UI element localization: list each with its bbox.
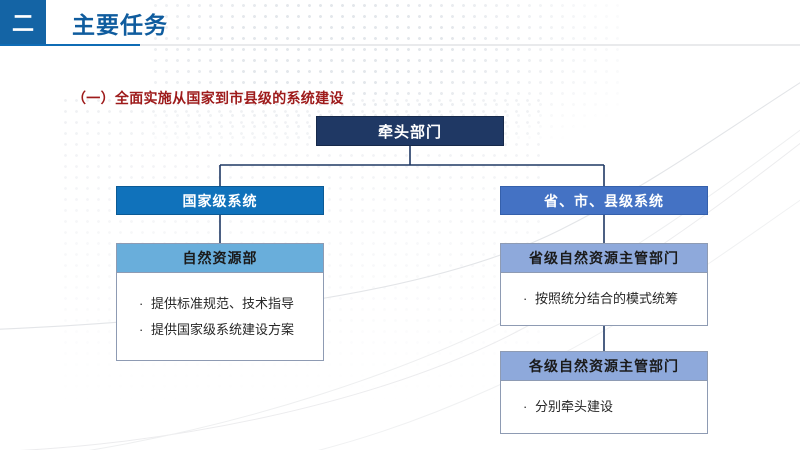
bullet-dot-icon: ·: [523, 400, 535, 414]
list-item: · 提供国家级系统建设方案: [139, 317, 323, 343]
list-item: · 按照统分结合的模式统筹: [523, 286, 707, 312]
section-subtitle: （一）全面实施从国家到市县级的系统建设: [72, 88, 344, 108]
card-title-ministry-natural-resources: 自然资源部: [117, 244, 323, 273]
list-item-label: 提供标准规范、技术指导: [151, 297, 294, 311]
header-divider-accent: [0, 44, 140, 46]
card-title-all-levels-natural-resources-authority: 各级自然资源主管部门: [501, 352, 707, 381]
list-item-label: 分别牵头建设: [535, 400, 613, 414]
bullet-dot-icon: ·: [139, 297, 151, 311]
bullet-dot-icon: ·: [523, 292, 535, 306]
list-item: · 分别牵头建设: [523, 394, 707, 420]
node-national-system[interactable]: 国家级系统: [116, 186, 324, 215]
list-item-label: 提供国家级系统建设方案: [151, 323, 294, 337]
card-body-ministry-natural-resources: · 提供标准规范、技术指导 · 提供国家级系统建设方案: [117, 273, 323, 360]
section-number-badge: 二: [0, 0, 46, 44]
node-provincial-municipal-county-system[interactable]: 省、市、县级系统: [500, 186, 708, 215]
slide-canvas: 二 主要任务 （一）全面实施从国家到市县级的系统建设 牵头部门 国家级系统 省、…: [0, 0, 800, 450]
slide-header: 二 主要任务: [0, 0, 800, 46]
card-title-provincial-natural-resources-authority: 省级自然资源主管部门: [501, 244, 707, 273]
card-ministry-natural-resources[interactable]: 自然资源部 · 提供标准规范、技术指导 · 提供国家级系统建设方案: [116, 243, 324, 361]
list-item: · 提供标准规范、技术指导: [139, 291, 323, 317]
card-provincial-natural-resources-authority[interactable]: 省级自然资源主管部门 · 按照统分结合的模式统筹: [500, 243, 708, 326]
bullet-dot-icon: ·: [139, 323, 151, 337]
page-title: 主要任务: [72, 6, 168, 40]
card-body-all-levels-natural-resources-authority: · 分别牵头建设: [501, 381, 707, 433]
card-body-provincial-natural-resources-authority: · 按照统分结合的模式统筹: [501, 273, 707, 325]
card-all-levels-natural-resources-authority[interactable]: 各级自然资源主管部门 · 分别牵头建设: [500, 351, 708, 434]
node-lead-department[interactable]: 牵头部门: [316, 116, 504, 146]
list-item-label: 按照统分结合的模式统筹: [535, 292, 678, 306]
